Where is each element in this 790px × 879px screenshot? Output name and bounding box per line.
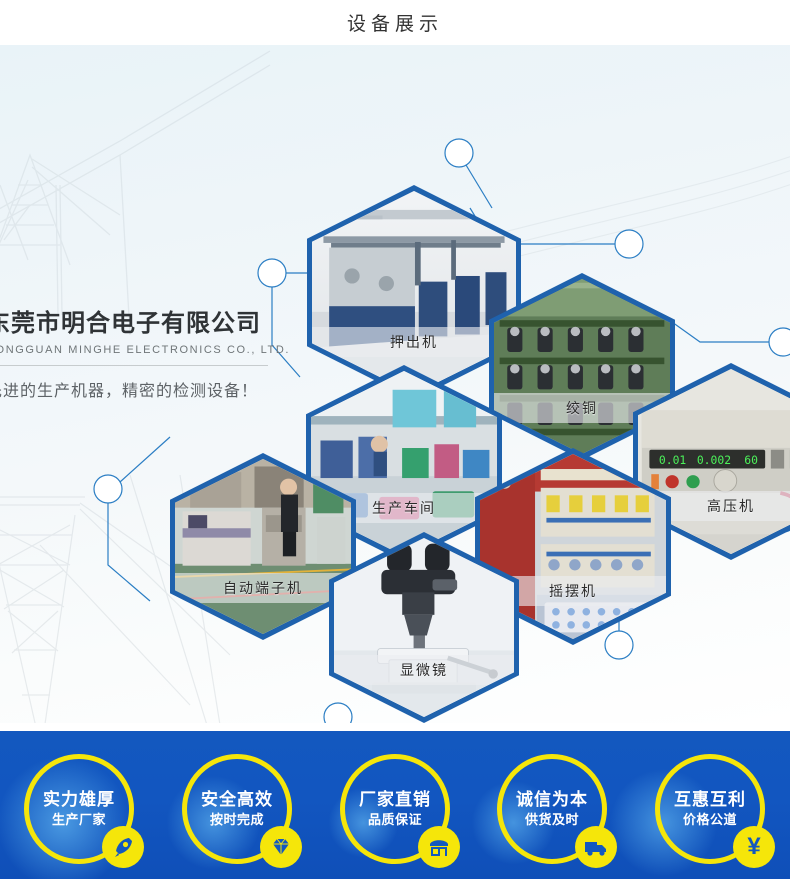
company-slogan: 先进的生产机器，精密的检测设备！ bbox=[0, 377, 286, 401]
page-title-bar: 设备展示 bbox=[0, 0, 790, 45]
terminal-machine-photo bbox=[175, 459, 351, 634]
device-showcase-page: 设备展示 bbox=[0, 0, 790, 879]
badge-subtitle: 生产厂家 bbox=[52, 811, 106, 829]
badge-factory-direct[interactable]: 厂家直销 品质保证 bbox=[340, 754, 450, 864]
badge-subtitle: 供货及时 bbox=[525, 811, 579, 829]
rocket-icon bbox=[102, 826, 144, 868]
hex-caption: 显微镜 bbox=[334, 655, 514, 685]
badge-integrity[interactable]: 诚信为本 供货及时 bbox=[497, 754, 607, 864]
extruder-photo bbox=[312, 191, 516, 394]
page-title: 设备展示 bbox=[347, 9, 443, 36]
hex-caption: 押出机 bbox=[312, 327, 516, 357]
hex-inner: 押出机 bbox=[312, 191, 516, 394]
diamond-icon bbox=[260, 826, 302, 868]
company-divider bbox=[0, 365, 268, 366]
yen-icon: ¥ bbox=[733, 826, 775, 868]
truck-icon bbox=[575, 826, 617, 868]
advantages-banner: 实力雄厚 生产厂家 安全高效 按时完成 bbox=[0, 731, 790, 879]
badge-safety[interactable]: 安全高效 按时完成 bbox=[182, 754, 292, 864]
hex-inner: 自动端子机 bbox=[175, 459, 351, 634]
gallery-stage: 押出机 bbox=[0, 45, 790, 723]
badge-title: 互惠互利 bbox=[674, 789, 746, 810]
shop-icon bbox=[418, 826, 460, 868]
svg-text:0.01: 0.01 bbox=[659, 453, 687, 467]
badge-title: 厂家直销 bbox=[359, 789, 431, 810]
svg-text:0.002: 0.002 bbox=[697, 453, 731, 467]
badge-strength[interactable]: 实力雄厚 生产厂家 bbox=[24, 754, 134, 864]
badge-title: 诚信为本 bbox=[516, 789, 588, 810]
badge-title: 实力雄厚 bbox=[43, 789, 115, 810]
company-name-en: DONGGUAN MINGHE ELECTRONICS CO., LTD. bbox=[0, 344, 286, 356]
hex-inner: 显微镜 bbox=[334, 538, 514, 717]
company-name-cn: 东莞市明合电子有限公司 bbox=[0, 303, 286, 338]
badge-mutual-benefit[interactable]: 互惠互利 价格公道 ¥ bbox=[655, 754, 765, 864]
badge-title: 安全高效 bbox=[201, 789, 273, 810]
company-info: 东莞市明合电子有限公司 DONGGUAN MINGHE ELECTRONICS … bbox=[0, 303, 286, 401]
svg-text:60: 60 bbox=[744, 453, 758, 467]
badge-subtitle: 按时完成 bbox=[210, 811, 264, 829]
badge-subtitle: 价格公道 bbox=[683, 811, 737, 829]
hex-caption: 自动端子机 bbox=[175, 573, 351, 603]
microscope-photo bbox=[334, 538, 514, 717]
yen-glyph: ¥ bbox=[747, 835, 760, 859]
badge-subtitle: 品质保证 bbox=[368, 811, 422, 829]
